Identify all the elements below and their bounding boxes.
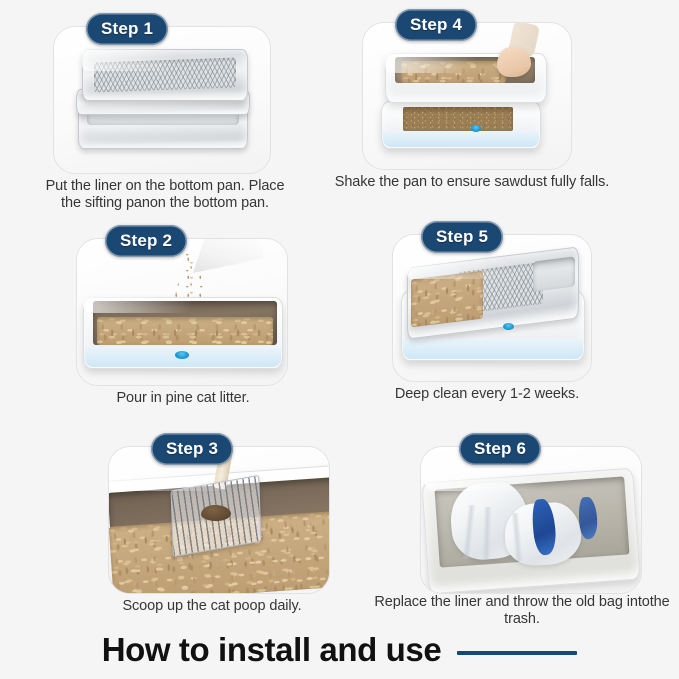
step-image-1 — [54, 27, 270, 173]
step-card-1: Step 1 — [53, 26, 271, 174]
step-block-5: Step 5 Deep clean every 1-2 weeks. — [382, 222, 642, 422]
title-rule — [457, 651, 577, 655]
step-badge-4: Step 4 — [395, 9, 477, 41]
step-block-1: Step 1 Put the liner on the bottom pan. … — [45, 18, 285, 223]
step-card-5: Step 5 — [392, 234, 592, 382]
step-badge-5: Step 5 — [421, 221, 503, 253]
page-title-row: How to install and use — [0, 620, 679, 679]
step-image-5 — [393, 235, 591, 381]
step-image-4 — [363, 23, 571, 169]
page-title: How to install and use — [102, 631, 442, 669]
step-block-6: Step 6 Replace the liner and throw the o… — [412, 436, 662, 626]
step-badge-1: Step 1 — [86, 13, 168, 45]
step-caption-1: Put the liner on the bottom pan. Place t… — [45, 178, 285, 212]
step-card-2: Step 2 — [76, 238, 288, 386]
step-block-3: Step 3 Scoop up the cat poop daily. — [100, 436, 350, 626]
step-caption-4: Shake the pan to ensure sawdust fully fa… — [312, 174, 632, 191]
step-card-6: Step 6 — [420, 446, 642, 594]
step-caption-5: Deep clean every 1-2 weeks. — [342, 386, 632, 403]
step-caption-2: Pour in pine cat litter. — [58, 390, 308, 407]
step-card-4: Step 4 — [362, 22, 572, 170]
step-block-4: Step 4 Shake the pan to ensure sawdust f… — [352, 12, 632, 217]
step-image-2 — [77, 239, 287, 385]
step-badge-6: Step 6 — [459, 433, 541, 465]
step-caption-3: Scoop up the cat poop daily. — [72, 598, 352, 615]
step-card-3: Step 3 — [108, 446, 330, 594]
step-badge-3: Step 3 — [151, 433, 233, 465]
step-image-3 — [109, 447, 329, 593]
steps-grid: Step 1 Put the liner on the bottom pan. … — [0, 0, 679, 625]
step-image-6 — [421, 447, 641, 593]
step-badge-2: Step 2 — [105, 225, 187, 257]
step-block-2: Step 2 Pour in pine cat litter. — [68, 228, 308, 418]
